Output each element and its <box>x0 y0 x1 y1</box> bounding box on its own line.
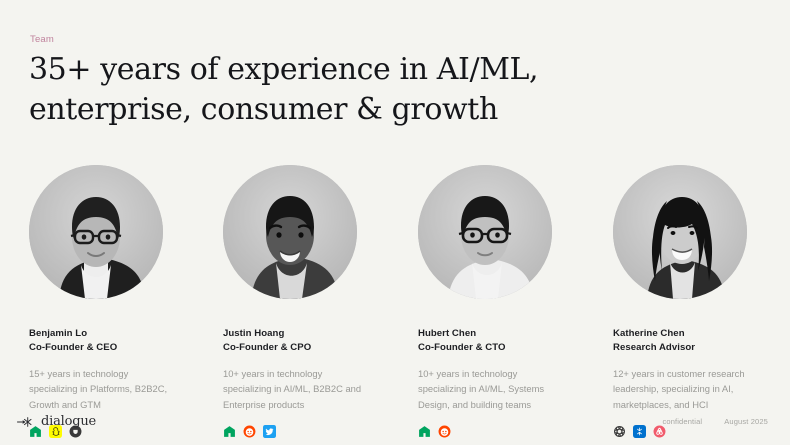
dialogue-asterisk-icon <box>16 416 38 428</box>
member-bio: 10+ years in technology specializing in … <box>223 366 373 412</box>
team-member-card: Hubert Chen Co-Founder & CTO 10+ years i… <box>394 165 591 439</box>
reddit-logo <box>243 425 256 438</box>
member-bio: 10+ years in technology specializing in … <box>418 366 568 412</box>
brand-footer: dialogue <box>16 414 96 429</box>
slide-root: Team 35+ years of experience in AI/ML, e… <box>0 0 790 445</box>
openai-logo <box>613 425 626 438</box>
member-role: Co-Founder & CTO <box>418 341 577 355</box>
robinhood-logo <box>418 425 431 438</box>
team-member-card: Justin Hoang Co-Founder & CPO 10+ years … <box>197 165 394 439</box>
airbnb-logo <box>653 425 666 438</box>
avatar <box>223 165 357 299</box>
brand-wordmark: dialogue <box>41 414 96 429</box>
avatar <box>29 165 163 299</box>
footer-meta: confidential August 2025 <box>662 417 768 426</box>
twitter-logo <box>263 425 276 438</box>
walmart-logo <box>633 425 646 438</box>
team-member-card: Benjamin Lo Co-Founder & CEO 15+ years i… <box>0 165 197 439</box>
team-grid: Benjamin Lo Co-Founder & CEO 15+ years i… <box>0 165 790 439</box>
robinhood-logo <box>223 425 236 438</box>
reddit-logo <box>438 425 451 438</box>
avatar <box>613 165 747 299</box>
member-role: Research Advisor <box>613 341 774 355</box>
member-name: Katherine Chen <box>613 327 774 341</box>
member-name: Benjamin Lo <box>29 327 183 341</box>
member-role: Co-Founder & CPO <box>223 341 380 355</box>
team-member-card: Katherine Chen Research Advisor 12+ year… <box>591 165 788 439</box>
member-role: Co-Founder & CEO <box>29 341 183 355</box>
member-logos <box>418 425 577 439</box>
member-logos <box>613 425 774 439</box>
member-name: Hubert Chen <box>418 327 577 341</box>
member-logos <box>223 425 380 439</box>
date-label: August 2025 <box>724 417 768 426</box>
member-bio: 15+ years in technology specializing in … <box>29 366 179 412</box>
confidential-label: confidential <box>662 417 702 426</box>
section-eyebrow: Team <box>30 34 54 45</box>
member-name: Justin Hoang <box>223 327 380 341</box>
page-title: 35+ years of experience in AI/ML, enterp… <box>29 50 669 130</box>
member-bio: 12+ years in customer research leadershi… <box>613 366 763 412</box>
avatar <box>418 165 552 299</box>
